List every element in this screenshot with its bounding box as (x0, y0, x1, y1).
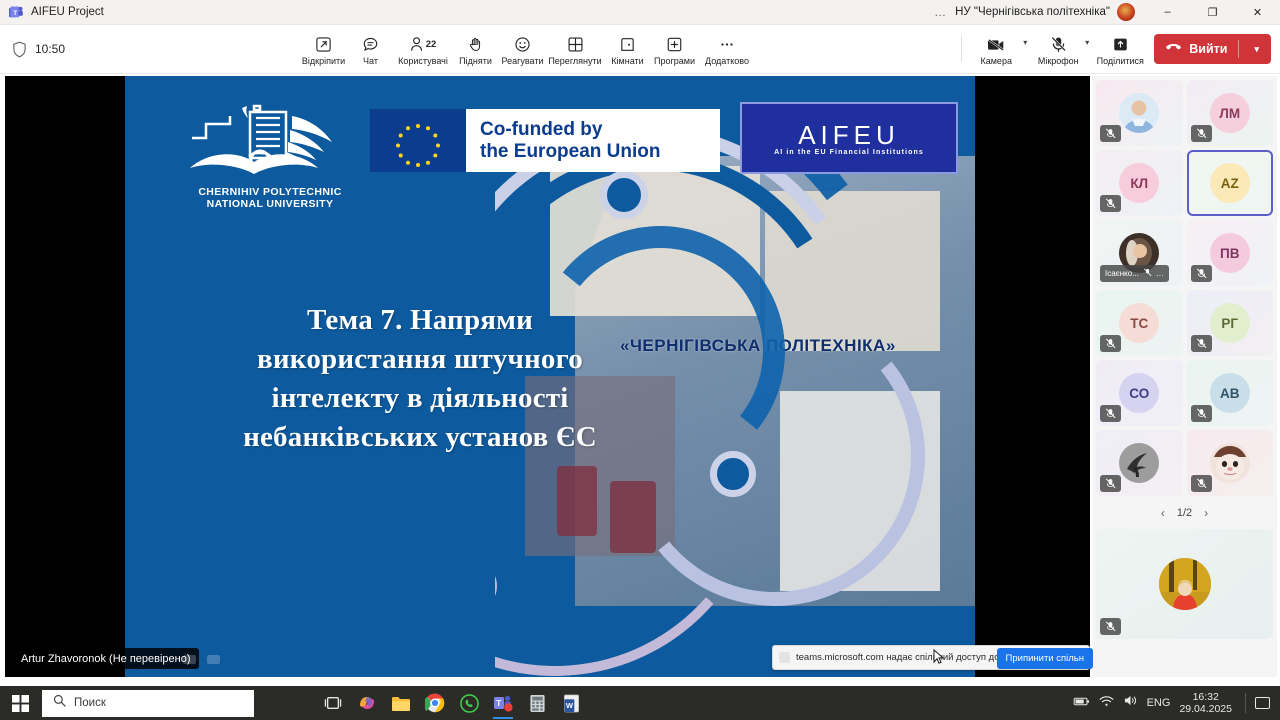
mic-muted-icon (1100, 475, 1121, 492)
avatar-initials: СО (1119, 373, 1159, 413)
svg-text:W: W (565, 701, 573, 710)
participant-tile-spotlight[interactable] (1096, 529, 1273, 639)
calculator-icon[interactable] (526, 692, 548, 714)
tool-label: Переглянути (548, 56, 601, 66)
device-label: Мікрофон (1038, 56, 1079, 66)
presentation-slide: «ЧЕРНІГІВСЬКА ПОЛІТЕХНІКА» (125, 76, 975, 677)
tool-people[interactable]: 22 Користувачі (394, 32, 452, 66)
notification-icon[interactable] (1255, 697, 1270, 709)
leave-chevron-down-icon[interactable]: ▾ (1246, 44, 1267, 55)
slide-title-line: використання штучного (180, 340, 660, 379)
mic-muted-icon (1191, 335, 1212, 352)
minimize-button[interactable]: – (1145, 0, 1190, 25)
unpin-popout-icon (315, 35, 332, 54)
mic-muted-icon (1191, 265, 1212, 282)
participant-tile[interactable] (1096, 430, 1183, 496)
more-dots-icon (718, 35, 736, 54)
slide-control-placeholder[interactable] (183, 655, 196, 664)
university-name-line2: NATIONAL UNIVERSITY (155, 198, 385, 210)
camera-chevron-down-icon[interactable]: ▾ (1022, 38, 1032, 61)
stop-sharing-button[interactable]: Припинити спільн (997, 648, 1093, 669)
avatar-initials: AZ (1210, 163, 1250, 203)
windows-taskbar: Поиск T W (0, 686, 1280, 720)
pager-next-icon[interactable]: › (1204, 506, 1208, 520)
aifeu-acronym: AIFEU (798, 121, 900, 149)
participant-name-chip[interactable]: Ісаєнко... … (1100, 265, 1169, 282)
volume-icon[interactable] (1123, 694, 1138, 712)
tool-label: Підняти (459, 56, 492, 66)
slide-title-line: небанківських установ ЄС (180, 418, 660, 457)
screen-share-notification: teams.microsoft.com надає спільний досту… (772, 645, 1090, 670)
participant-more-icon[interactable]: … (1156, 269, 1164, 278)
avatar-initials: АВ (1210, 373, 1250, 413)
raise-hand-icon (468, 35, 484, 54)
task-view-icon[interactable] (322, 692, 344, 714)
device-label: Камера (981, 56, 1012, 66)
search-placeholder: Поиск (74, 697, 106, 709)
eu-flag-icon (370, 109, 466, 172)
hangup-icon (1165, 42, 1182, 56)
eu-badge-text: Co-funded by the European Union (466, 109, 720, 172)
share-screen-icon (1112, 35, 1129, 54)
mic-muted-icon (1100, 125, 1121, 142)
file-explorer-icon[interactable] (390, 692, 412, 714)
avatar-initials: КЛ (1119, 163, 1159, 203)
teams-icon: T (9, 5, 24, 20)
word-icon[interactable]: W (560, 692, 582, 714)
microphone-chevron-down-icon[interactable]: ▾ (1084, 38, 1094, 61)
meeting-tools: Відкріпити Чат 22 Користувачі (300, 32, 756, 66)
tool-more[interactable]: Додатково (698, 32, 756, 66)
slide-title-line: Тема 7. Напрями (180, 301, 660, 340)
aifeu-subtitle: AI in the EU Financial Institutions (774, 149, 924, 156)
chernihiv-polytechnic-logo: CHERNIHIV POLYTECHNIC NATIONAL UNIVERSIT… (155, 94, 385, 210)
meeting-status-group: 10:50 (0, 41, 300, 58)
clock[interactable]: 16:32 29.04.2025 (1179, 691, 1232, 715)
avatar (1210, 443, 1250, 483)
avatar (1119, 443, 1159, 483)
mouse-cursor (933, 649, 944, 670)
mic-muted-icon (1100, 195, 1121, 212)
mic-muted-icon (1191, 125, 1212, 142)
apps-plus-icon (666, 35, 683, 54)
participant-tile[interactable]: ПВ (1187, 220, 1274, 286)
participant-count: 22 (426, 39, 437, 50)
presenter-name-label: Artur Zhavoronok (Не перевірено) (13, 648, 199, 669)
whatsapp-icon[interactable] (458, 692, 480, 714)
mic-muted-icon (1191, 405, 1212, 422)
leave-divider (1238, 40, 1239, 58)
tool-label: Чат (363, 56, 378, 66)
avatar (1159, 558, 1211, 610)
avatar-initials: ТС (1119, 303, 1159, 343)
tool-raise-hand[interactable]: Підняти (452, 32, 499, 66)
tray-divider (1245, 693, 1246, 713)
slide-control-placeholder[interactable] (207, 655, 220, 664)
chrome-icon[interactable] (424, 692, 446, 714)
tool-label: Програми (654, 56, 695, 66)
close-button[interactable]: ✕ (1235, 0, 1280, 25)
site-favicon (779, 652, 790, 663)
taskbar-apps: T W (322, 692, 582, 714)
title-bar-right: … НУ "Чернігівська політехніка" – ❐ ✕ (926, 0, 1280, 25)
participant-tile[interactable]: СО (1096, 360, 1183, 426)
tool-react[interactable]: Реагувати (499, 32, 546, 66)
tool-view[interactable]: Переглянути (546, 32, 604, 66)
tool-rooms[interactable]: Кімнати (604, 32, 651, 66)
battery-icon[interactable] (1073, 694, 1090, 712)
camera-toggle[interactable]: Камера (970, 32, 1022, 66)
teams-icon[interactable]: T (492, 692, 514, 714)
svg-text:T: T (496, 699, 501, 708)
tool-apps[interactable]: Програми (651, 32, 698, 66)
tool-label: Додатково (705, 56, 749, 66)
mic-muted-icon (1100, 405, 1121, 422)
avatar (1119, 93, 1159, 133)
mic-muted-icon (1100, 335, 1121, 352)
view-grid-icon (567, 35, 584, 54)
people-icon: 22 (410, 35, 437, 54)
mic-muted-icon (1191, 475, 1212, 492)
title-bar-left: T AIFEU Project (0, 5, 104, 20)
tool-label: Відкріпити (302, 56, 345, 66)
participant-tile[interactable]: ЛМ (1187, 80, 1274, 146)
clock-date: 29.04.2025 (1179, 703, 1232, 715)
participant-tile[interactable] (1096, 80, 1183, 146)
pager-label: 1/2 (1177, 507, 1192, 519)
university-emblem-icon (170, 94, 370, 184)
window-title-bar: T AIFEU Project … НУ "Чернігівська політ… (0, 0, 1280, 25)
system-tray: ENG 16:32 29.04.2025 (1073, 691, 1280, 715)
windows-start-icon[interactable] (0, 686, 40, 720)
avatar-initials: ПВ (1210, 233, 1250, 273)
participant-tile[interactable]: КЛ (1096, 150, 1183, 216)
react-emoji-icon (514, 35, 531, 54)
wifi-icon[interactable] (1099, 694, 1114, 712)
search-icon (53, 694, 66, 712)
meeting-elapsed-time: 10:50 (35, 42, 65, 56)
rooms-icon (619, 35, 636, 54)
window-title: AIFEU Project (31, 6, 104, 18)
avatar-initials: ЛМ (1210, 93, 1250, 133)
tool-label: Реагувати (501, 56, 543, 66)
participant-tile[interactable] (1187, 430, 1274, 496)
title-overflow-icon[interactable]: … (926, 5, 955, 19)
clock-time: 16:32 (1179, 691, 1232, 703)
participant-tile[interactable]: ТС (1096, 290, 1183, 356)
tool-label: Кімнати (611, 56, 643, 66)
participant-name: Ісаєнко... (1105, 269, 1139, 278)
shield-icon (12, 41, 27, 58)
aifeu-logo: AIFEU AI in the EU Financial Institution… (740, 102, 958, 174)
tool-chat[interactable]: Чат (347, 32, 394, 66)
search-input[interactable]: Поиск (42, 690, 254, 717)
eu-cofunded-badge: Co-funded by the European Union (370, 109, 720, 172)
slide-logos: CHERNIHIV POLYTECHNIC NATIONAL UNIVERSIT… (125, 94, 975, 204)
leave-label: Вийти (1189, 42, 1227, 56)
slide-title-line: інтелекту в діяльності (180, 379, 660, 418)
participants-grid: ЛМ КЛ AZ Ісаєнко... (1092, 76, 1277, 500)
mic-muted-icon (1100, 618, 1121, 635)
slide-background: «ЧЕРНІГІВСЬКА ПОЛІТЕХНІКА» (125, 76, 975, 677)
language-indicator[interactable]: ENG (1147, 697, 1171, 709)
shared-content-stage[interactable]: «ЧЕРНІГІВСЬКА ПОЛІТЕХНІКА» (5, 76, 1090, 677)
chat-icon (362, 35, 379, 54)
organization-label: НУ "Чернігівська політехніка" (955, 6, 1117, 18)
tool-unpin[interactable]: Відкріпити (300, 32, 347, 66)
participant-tile[interactable]: Ісаєнко... … (1096, 220, 1183, 286)
participant-tile[interactable]: АВ (1187, 360, 1274, 426)
participant-tile[interactable]: РГ (1187, 290, 1274, 356)
microphone-off-icon (1050, 35, 1067, 54)
meeting-toolbar: 10:50 Відкріпити Чат 22 (0, 25, 1280, 74)
tool-label: Користувачі (398, 56, 448, 66)
eu-badge-line2: the European Union (480, 141, 720, 163)
teams-meeting-window: T AIFEU Project … НУ "Чернігівська політ… (0, 0, 1280, 720)
mic-muted-icon (1143, 268, 1152, 279)
node-circle (710, 451, 756, 497)
leave-meeting-button[interactable]: Вийти ▾ (1154, 34, 1271, 64)
microphone-toggle[interactable]: Мікрофон (1032, 32, 1084, 66)
participants-panel: ЛМ КЛ AZ Ісаєнко... (1092, 76, 1277, 677)
account-avatar[interactable] (1117, 3, 1135, 21)
university-name-line1: CHERNIHIV POLYTECHNIC (155, 186, 385, 198)
device-label: Поділитися (1097, 56, 1144, 66)
university-name: CHERNIHIV POLYTECHNIC NATIONAL UNIVERSIT… (155, 186, 385, 210)
participant-tile-active[interactable]: AZ (1187, 150, 1274, 216)
camera-off-icon (986, 35, 1006, 54)
device-controls: Камера ▾ Мікрофон ▾ Поділитися Вийт (953, 32, 1280, 66)
share-screen-button[interactable]: Поділитися (1094, 32, 1146, 66)
roster-pager: ‹ 1/2 › (1092, 500, 1277, 525)
avatar-initials: РГ (1210, 303, 1250, 343)
maximize-button[interactable]: ❐ (1190, 0, 1235, 25)
toolbar-divider (961, 36, 962, 62)
pager-prev-icon[interactable]: ‹ (1161, 506, 1165, 520)
eu-badge-line1: Co-funded by (480, 119, 720, 141)
svg-text:T: T (13, 10, 17, 16)
slide-title: Тема 7. Напрями використання штучного ін… (180, 301, 660, 457)
copilot-icon[interactable] (356, 692, 378, 714)
